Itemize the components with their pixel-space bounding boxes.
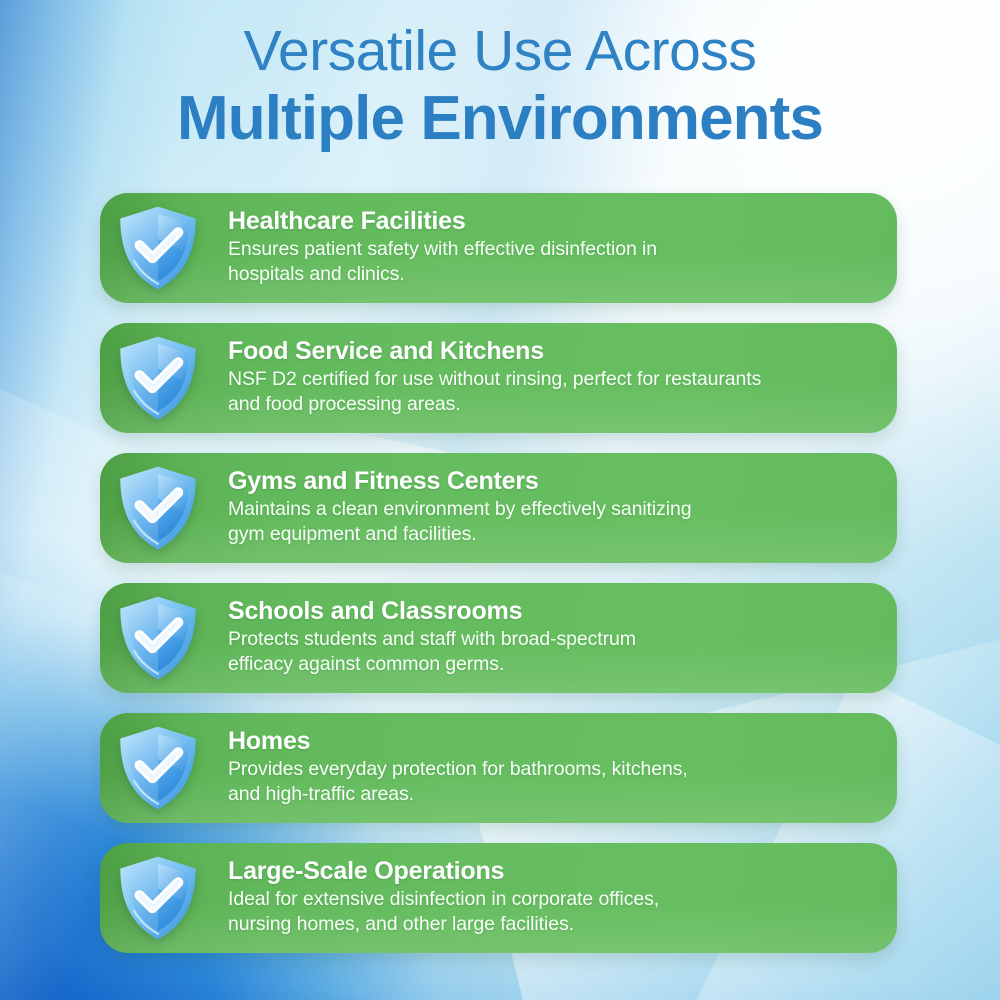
environment-card-text: Schools and Classrooms Protects students… (206, 597, 897, 678)
environment-card-text: Homes Provides everyday protection for b… (206, 727, 897, 808)
environment-card-text: Food Service and Kitchens NSF D2 certifi… (206, 337, 897, 418)
shield-check-icon (110, 590, 206, 686)
environment-card[interactable]: Schools and Classrooms Protects students… (100, 583, 897, 693)
environment-card-text: Healthcare Facilities Ensures patient sa… (206, 207, 897, 288)
environment-card-title: Large-Scale Operations (228, 857, 879, 885)
environment-card-title: Gyms and Fitness Centers (228, 467, 879, 495)
shield-check-icon (110, 720, 206, 816)
environment-card-text: Gyms and Fitness Centers Maintains a cle… (206, 467, 897, 548)
infographic-poster: Versatile Use Across Multiple Environmen… (0, 0, 1000, 1000)
environment-card[interactable]: Homes Provides everyday protection for b… (100, 713, 897, 823)
environment-card-description: Maintains a clean environment by effecti… (228, 497, 879, 548)
environment-card-text: Large-Scale Operations Ideal for extensi… (206, 857, 897, 938)
environment-card-list: Healthcare Facilities Ensures patient sa… (100, 193, 897, 953)
shield-check-icon (110, 200, 206, 296)
environment-card-title: Homes (228, 727, 879, 755)
shield-check-icon (110, 850, 206, 946)
shield-check-icon (110, 460, 206, 556)
page-title-line-2: Multiple Environments (0, 86, 1000, 152)
environment-card[interactable]: Large-Scale Operations Ideal for extensi… (100, 843, 897, 953)
shield-check-icon (110, 330, 206, 426)
environment-card-description: Protects students and staff with broad-s… (228, 627, 879, 678)
environment-card-description: Ensures patient safety with effective di… (228, 237, 879, 288)
environment-card-description: Provides everyday protection for bathroo… (228, 757, 879, 808)
environment-card[interactable]: Food Service and Kitchens NSF D2 certifi… (100, 323, 897, 433)
environment-card-title: Healthcare Facilities (228, 207, 879, 235)
page-title-line-1: Versatile Use Across (0, 22, 1000, 80)
environment-card-title: Schools and Classrooms (228, 597, 879, 625)
environment-card-description: Ideal for extensive disinfection in corp… (228, 887, 879, 938)
environment-card-title: Food Service and Kitchens (228, 337, 879, 365)
environment-card-description: NSF D2 certified for use without rinsing… (228, 367, 879, 418)
environment-card[interactable]: Healthcare Facilities Ensures patient sa… (100, 193, 897, 303)
environment-card[interactable]: Gyms and Fitness Centers Maintains a cle… (100, 453, 897, 563)
page-title: Versatile Use Across Multiple Environmen… (0, 22, 1000, 152)
